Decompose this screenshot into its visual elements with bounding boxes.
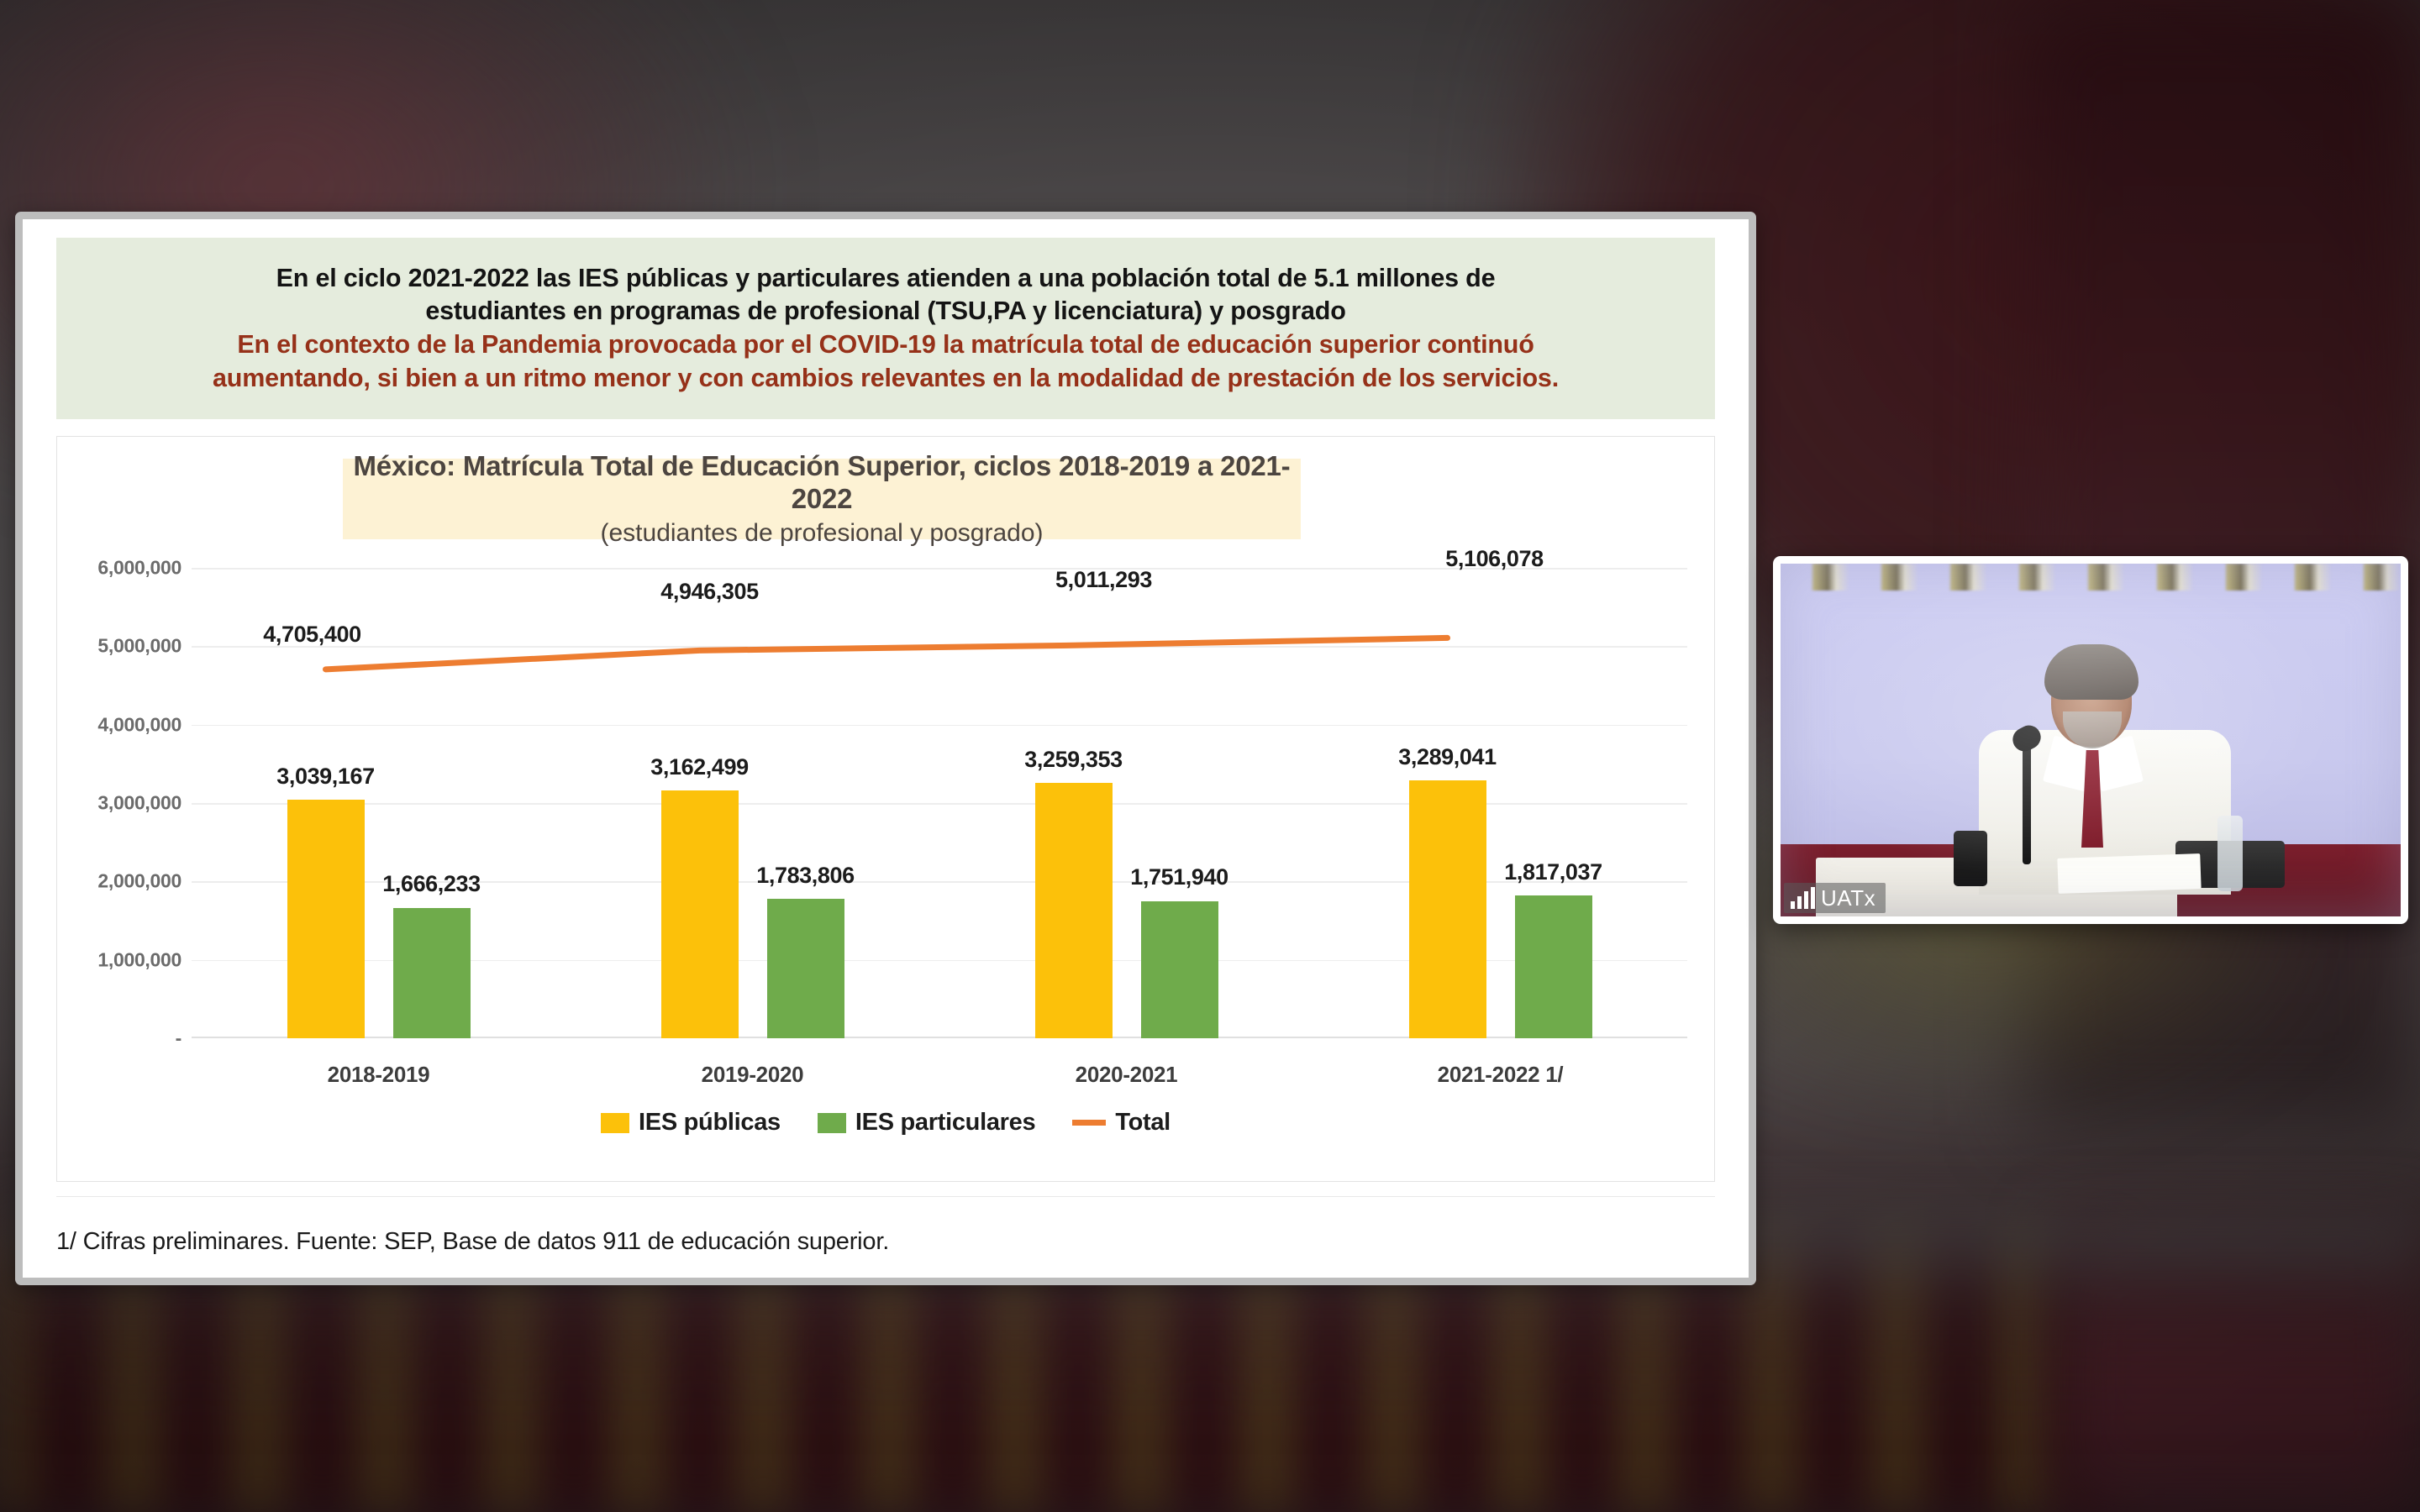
y-tick-label: 5,000,000 [97, 635, 181, 658]
chart-subtitle: (estudiantes de profesional y posgrado) [601, 518, 1044, 548]
banner-line-1: En el ciclo 2021-2022 las IES públicas y… [276, 262, 1496, 296]
x-axis-category-labels: 2018-20192019-20202020-20212021-2022 1/ [192, 1062, 1687, 1099]
legend-color-swatch [601, 1113, 629, 1133]
banner-line-3: En el contexto de la Pandemia provocada … [237, 328, 1534, 362]
x-tick-label: 2021-2022 1/ [1438, 1062, 1564, 1088]
footnote-divider [56, 1196, 1715, 1197]
legend-label: IES particulares [855, 1109, 1035, 1137]
legend-color-swatch [818, 1113, 846, 1133]
y-axis: -1,000,0002,000,0003,000,0004,000,0005,0… [59, 568, 185, 1038]
plot-area: -1,000,0002,000,0003,000,0004,000,0005,0… [192, 568, 1687, 1038]
video-overlay[interactable]: UATx [1773, 556, 2408, 924]
slide-footnote: 1/ Cifras preliminares. Fuente: SEP, Bas… [56, 1228, 1653, 1256]
y-tick-label: 6,000,000 [97, 557, 181, 580]
y-tick-label: 4,000,000 [97, 713, 181, 736]
total-label: 5,106,078 [1445, 546, 1544, 572]
slide-banner: En el ciclo 2021-2022 las IES públicas y… [56, 238, 1715, 419]
total-label: 4,946,305 [660, 579, 759, 605]
video-frame: UATx [1781, 564, 2401, 916]
y-tick-label: - [176, 1027, 181, 1050]
legend-item[interactable]: IES particulares [818, 1109, 1035, 1137]
y-tick-label: 3,000,000 [97, 792, 181, 815]
chart-title-box: México: Matrícula Total de Educación Sup… [343, 459, 1301, 539]
x-tick-label: 2019-2020 [702, 1062, 804, 1088]
y-tick-label: 2,000,000 [97, 870, 181, 893]
legend-label: Total [1115, 1109, 1171, 1137]
x-tick-label: 2020-2021 [1076, 1062, 1178, 1088]
total-line-series [192, 568, 1687, 1038]
x-tick-label: 2018-2019 [328, 1062, 430, 1088]
total-label: 4,705,400 [263, 622, 361, 648]
legend-label: IES públicas [639, 1109, 781, 1137]
legend-line-swatch [1072, 1120, 1106, 1126]
legend-item[interactable]: Total [1072, 1109, 1171, 1137]
video-watermark: UATx [1784, 883, 1886, 913]
banner-line-2: estudiantes en programas de profesional … [425, 295, 1345, 328]
chart-title: México: Matrícula Total de Educación Sup… [343, 450, 1301, 516]
total-label: 5,011,293 [1055, 567, 1152, 593]
chart-legend: IES públicasIES particularesTotal [57, 1109, 1714, 1137]
presentation-slide: En el ciclo 2021-2022 las IES públicas y… [15, 212, 1756, 1285]
banner-line-4: aumentando, si bien a un ritmo menor y c… [213, 362, 1559, 396]
legend-item[interactable]: IES públicas [601, 1109, 781, 1137]
video-soft-light [1781, 564, 2401, 916]
chart-container: México: Matrícula Total de Educación Sup… [56, 436, 1715, 1182]
signal-bars-icon [1791, 887, 1815, 909]
y-tick-label: 1,000,000 [97, 948, 181, 971]
watermark-label: UATx [1821, 887, 1875, 909]
